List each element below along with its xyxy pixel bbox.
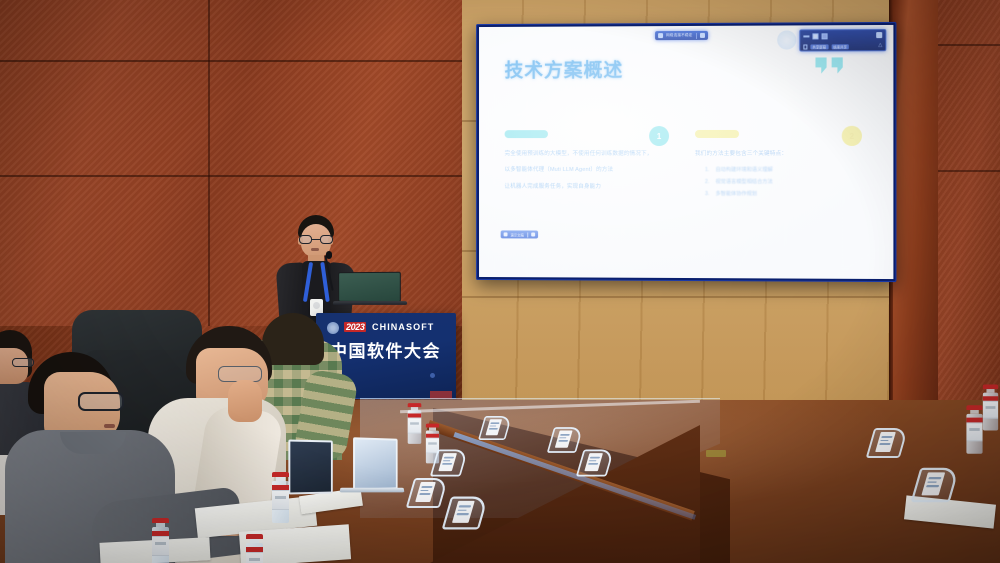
screen-share-toolbar[interactable]: 网络连接不稳定	[655, 31, 707, 40]
mic-icon[interactable]	[803, 44, 807, 49]
podium-accent	[430, 391, 452, 399]
window-buttons-row	[803, 32, 882, 40]
attendee-laptop-base	[340, 488, 405, 493]
conference-logo-icon	[327, 322, 339, 334]
divider	[527, 232, 528, 237]
list-text: 视觉语言模型相结合方法	[715, 179, 772, 185]
attendee-hand	[228, 380, 262, 422]
share-screen-chip[interactable]: 共享屏幕	[810, 44, 828, 49]
divider	[696, 32, 697, 38]
list-text: 多智能体协作规划	[715, 191, 757, 197]
app-icon	[504, 232, 508, 236]
water-bottle	[246, 534, 263, 563]
wall-seam	[208, 0, 210, 330]
wifi-icon: △	[878, 42, 882, 48]
slide-right-list: 1. 自动构建环境和语义理解 2. 视觉语言模型相结合方法 3. 多智能体协作规…	[695, 165, 856, 200]
podium-year: 2023	[344, 322, 366, 332]
attendee-laptop	[288, 439, 332, 494]
signal-icon	[658, 33, 663, 38]
slide-bubble-2: 2	[842, 126, 862, 146]
name-placard	[580, 450, 611, 477]
slide-left-para-3: 让机器人完成服务任务，实现自身能力	[505, 181, 663, 192]
name-placard	[550, 427, 579, 453]
podium-indicator	[430, 373, 435, 378]
presenter-mouth	[311, 248, 319, 251]
toolbar-status-text: 网络连接不稳定	[666, 33, 693, 38]
water-bottle	[966, 405, 982, 453]
minimize-icon[interactable]	[803, 35, 809, 37]
water-bottle	[408, 403, 422, 444]
name-placard	[870, 428, 904, 458]
list-number: 2.	[705, 177, 714, 188]
scene-photo: 技术方案概述 完全使用预训练的大模型，不使用任何训练数据的情况下， 以多智能体代…	[0, 0, 1000, 563]
slide-right-heading: 我们的方法主要包含三个关键特点：	[695, 149, 856, 159]
name-placard	[410, 478, 444, 508]
window-chips-row: 共享屏幕 结束共享	[803, 42, 882, 50]
name-placard	[915, 468, 954, 503]
wall-seam	[938, 170, 1000, 172]
stop-share-chip[interactable]: 结束共享	[831, 44, 849, 49]
slide-tag-cyan	[505, 130, 548, 138]
slide-tag-yellow	[695, 130, 739, 138]
quote-icon	[815, 57, 826, 73]
slide-title: 技术方案概述	[505, 55, 624, 82]
attendee-laptop-screen	[353, 437, 398, 491]
slide-footer-badge[interactable]: 演示文稿	[501, 230, 538, 238]
wall-seam	[0, 60, 470, 62]
list-item: 3. 多智能体协作规划	[705, 189, 856, 200]
slide-left-para-1: 完全使用预训练的大模型，不使用任何训练数据的情况下，	[505, 149, 663, 159]
attendee-mouth	[104, 424, 115, 428]
list-number: 1.	[705, 165, 714, 176]
slide-left-para-2: 以多智能体代理（Muti LLM Agent）的方法	[505, 165, 663, 175]
podium-laptop-screen	[338, 272, 401, 303]
presentation-screen: 技术方案概述 完全使用预训练的大模型，不使用任何训练数据的情况下， 以多智能体代…	[476, 22, 896, 282]
table-plaque	[706, 450, 726, 457]
maximize-icon[interactable]	[812, 33, 818, 39]
list-text: 自动构建环境和语义理解	[715, 167, 772, 173]
glasses-icon	[299, 235, 333, 244]
slide-surface: 技术方案概述 完全使用预训练的大模型，不使用任何训练数据的情况下， 以多智能体代…	[479, 25, 893, 279]
conference-logo-icon	[777, 30, 796, 49]
settings-icon[interactable]	[876, 32, 882, 38]
podium-brand-en: CHINASOFT	[372, 322, 434, 332]
glasses-icon	[78, 392, 124, 411]
list-item: 2. 视觉语言模型相结合方法	[705, 177, 856, 188]
water-bottle	[152, 518, 169, 563]
list-number: 3.	[705, 189, 714, 200]
link-icon[interactable]	[700, 33, 705, 38]
water-bottle	[983, 385, 998, 431]
quote-mark-decoration	[815, 57, 842, 73]
slide-right-column: 我们的方法主要包含三个关键特点： 1. 自动构建环境和语义理解 2. 视觉语言模…	[695, 130, 856, 202]
slide-left-column: 完全使用预训练的大模型，不使用任何训练数据的情况下， 以多智能体代理（Muti …	[505, 130, 663, 198]
glasses-icon	[12, 358, 34, 367]
name-placard	[434, 450, 465, 477]
podium-laptop-base	[333, 301, 407, 305]
slide-footer-text: 演示文稿	[510, 232, 523, 237]
wall-seam	[0, 175, 470, 177]
wall-seam	[938, 44, 1000, 46]
panel-seam	[462, 296, 898, 298]
list-item: 1. 自动构建环境和语义理解	[705, 165, 856, 176]
name-placard	[446, 497, 483, 530]
microphone-icon	[326, 251, 332, 259]
meeting-window-controls[interactable]: 共享屏幕 结束共享 △	[799, 29, 886, 52]
podium-brand-cn: 中国软件大会	[330, 337, 441, 362]
more-icon[interactable]	[531, 233, 535, 237]
water-bottle	[272, 472, 289, 523]
slide-bubble-1: 1	[649, 126, 669, 146]
name-placard	[481, 416, 508, 440]
quote-icon	[832, 57, 843, 73]
close-icon[interactable]	[822, 33, 828, 39]
